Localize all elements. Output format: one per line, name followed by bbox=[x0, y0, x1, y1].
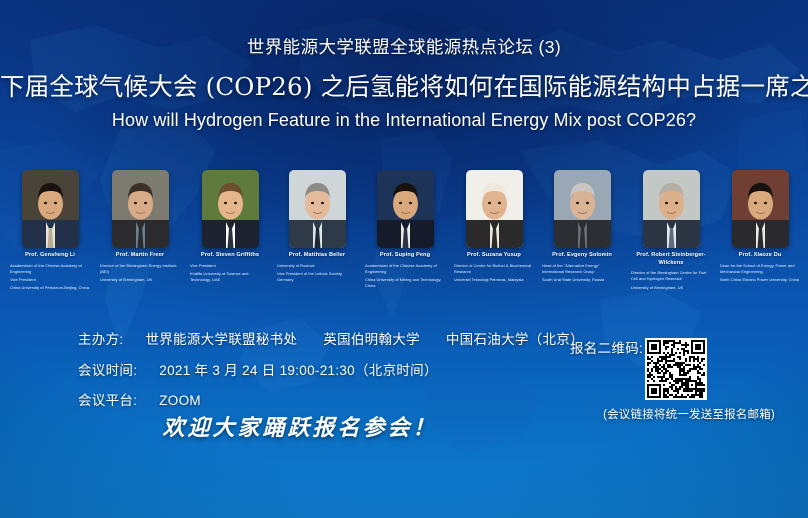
time-label: 会议时间: bbox=[78, 364, 137, 378]
speaker-card: Prof. Evgeny SolominHead of the "Alterna… bbox=[540, 170, 624, 285]
speaker-affiliation-line: Vice President of the Leibniz Society, G… bbox=[277, 271, 357, 283]
speaker-card: Prof. Martin FreerDirector of the Birmin… bbox=[98, 170, 182, 285]
speaker-affiliation-line: Dean for the School of Energy, Power and… bbox=[720, 263, 800, 275]
speaker-affiliation-line: Khalifa University of Science and Techno… bbox=[190, 271, 270, 283]
speaker-card: Prof. Suping PengAcademician of the Chin… bbox=[363, 170, 447, 292]
speaker-card: Prof. Suzana YusupDirector of Centre for… bbox=[452, 170, 536, 285]
speaker-photo bbox=[202, 170, 259, 248]
speaker-affiliation-line: Academician of the Chinese Academy of En… bbox=[365, 263, 445, 275]
time-value: 2021 年 3 月 24 日 19:00-21:30（北京时间） bbox=[159, 364, 438, 378]
speaker-affiliation-line: Director of the Birmingham Centre for Fu… bbox=[631, 270, 711, 282]
speaker-affiliation-line: Universiti Teknologi Petronas, Malaysia bbox=[454, 277, 534, 283]
speaker-affiliations: Head of the "Alternative Energy" Interna… bbox=[540, 263, 624, 284]
speaker-name: Prof. Steven Griffiths bbox=[188, 252, 272, 260]
organizer-3: 中国石油大学（北京） bbox=[446, 333, 584, 347]
speaker-affiliation-line: Director of the Birmingham Energy Instit… bbox=[100, 263, 180, 275]
speaker-affiliation-line: South Ural State University, Russia bbox=[542, 277, 622, 283]
speaker-affiliation-line: China University of Mining and Technolog… bbox=[365, 277, 445, 289]
qr-label: 报名二维码: bbox=[570, 337, 643, 357]
speaker-affiliation-line: Vice President bbox=[10, 277, 90, 283]
qr-note: (会议链接将统一发送至报名邮箱) bbox=[567, 406, 808, 422]
poster-root: 世界能源大学联盟全球能源热点论坛 (3) 下届全球气候大会 (COP26) 之后… bbox=[0, 0, 808, 518]
speaker-card: Prof. Matthias BellerUniversity of Rosto… bbox=[275, 170, 359, 285]
speaker-photo bbox=[554, 170, 611, 248]
platform-value: ZOOM bbox=[159, 394, 201, 408]
speaker-affiliations: Academician of the Chinese Academy of En… bbox=[363, 263, 447, 290]
series-title: 世界能源大学联盟全球能源热点论坛 (3) bbox=[0, 34, 808, 59]
speaker-card: Prof. Steven GriffithsVice PresidentKhal… bbox=[188, 170, 272, 285]
speaker-affiliation-line: University of Rostock bbox=[277, 263, 357, 269]
platform-row: 会议平台:ZOOM bbox=[78, 394, 598, 408]
speaker-name: Prof. Gensheng Li bbox=[8, 252, 92, 260]
organizer-2: 英国伯明翰大学 bbox=[323, 333, 420, 347]
speaker-affiliation-line: University of Birmingham, UK bbox=[631, 285, 711, 291]
speaker-affiliations: Dean for the School of Energy, Power and… bbox=[718, 263, 802, 284]
speaker-affiliations: Academician of the Chinese Academy of En… bbox=[8, 263, 92, 292]
speaker-affiliations: University of RostockVice President of t… bbox=[275, 263, 359, 284]
speaker-affiliations: Vice PresidentKhalifa University of Scie… bbox=[188, 263, 272, 284]
speaker-name: Prof. Xiaoze Du bbox=[718, 252, 802, 260]
organizer-label: 主办方: bbox=[78, 333, 123, 347]
speaker-affiliation-line: University of Birmingham, UK bbox=[100, 277, 180, 283]
platform-label: 会议平台: bbox=[78, 394, 137, 408]
time-row: 会议时间:2021 年 3 月 24 日 19:00-21:30（北京时间） bbox=[78, 364, 598, 378]
speaker-card: Prof. Gensheng LiAcademician of the Chin… bbox=[8, 170, 92, 294]
speaker-affiliation-line: Academician of the Chinese Academy of En… bbox=[10, 263, 90, 275]
speaker-name: Prof. Martin Freer bbox=[98, 252, 182, 260]
page-title: 下届全球气候大会 (COP26) 之后氢能将如何在国际能源结构中占据一席之地？ bbox=[0, 68, 808, 103]
speaker-affiliation-line: Director of Centre for Biofuel & Biochem… bbox=[454, 263, 534, 275]
speaker-affiliation-line: China University of Petroleum-Beijing, C… bbox=[10, 285, 90, 291]
welcome-message: 欢迎大家踊跃报名参会！ bbox=[0, 410, 600, 442]
speaker-affiliation-line: Vice President bbox=[190, 263, 270, 269]
speaker-affiliation-line: Head of the "Alternative Energy" Interna… bbox=[542, 263, 622, 275]
speaker-name: Prof. Robert Steinberger-Wilckens bbox=[629, 252, 713, 267]
speaker-affiliations: Director of Centre for Biofuel & Biochem… bbox=[452, 263, 536, 284]
speaker-photo bbox=[377, 170, 434, 248]
speaker-photo bbox=[643, 170, 700, 248]
qr-code-image[interactable] bbox=[645, 338, 707, 400]
speaker-photo bbox=[466, 170, 523, 248]
speaker-name: Prof. Suping Peng bbox=[363, 252, 447, 260]
speaker-name: Prof. Suzana Yusup bbox=[452, 252, 536, 260]
speaker-card: Prof. Xiaoze DuDean for the School of En… bbox=[718, 170, 802, 285]
speaker-list: Prof. Gensheng LiAcademician of the Chin… bbox=[0, 170, 808, 310]
speaker-photo bbox=[732, 170, 789, 248]
speaker-photo bbox=[112, 170, 169, 248]
organizer-row: 主办方:世界能源大学联盟秘书处英国伯明翰大学中国石油大学（北京） bbox=[78, 333, 598, 347]
speaker-name: Prof. Evgeny Solomin bbox=[540, 252, 624, 260]
speaker-photo bbox=[22, 170, 79, 248]
speaker-photo bbox=[289, 170, 346, 248]
speaker-card: Prof. Robert Steinberger-WilckensDirecto… bbox=[629, 170, 713, 293]
organizer-1: 世界能源大学联盟秘书处 bbox=[145, 333, 297, 347]
speaker-affiliations: Director of the Birmingham Centre for Fu… bbox=[629, 270, 713, 291]
speaker-affiliations: Director of the Birmingham Energy Instit… bbox=[98, 263, 182, 284]
speaker-name: Prof. Matthias Beller bbox=[275, 252, 359, 260]
subtitle: How will Hydrogen Feature in the Interna… bbox=[0, 110, 808, 131]
speaker-affiliation-line: North China Electric Power University, C… bbox=[720, 277, 800, 283]
